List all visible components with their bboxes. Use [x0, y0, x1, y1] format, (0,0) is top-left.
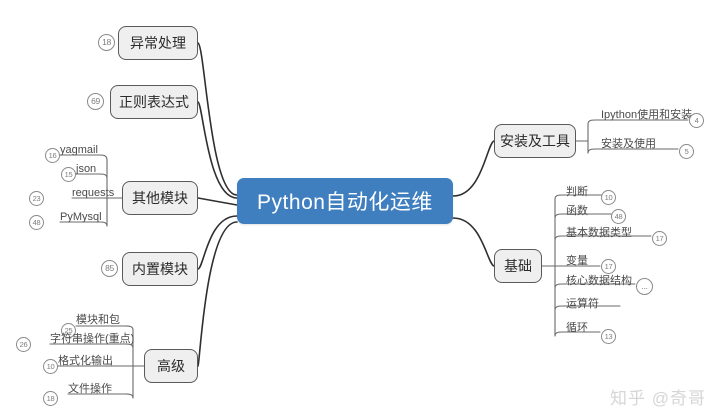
leaf-basic-data-types[interactable]: 基本数据类型	[566, 227, 632, 239]
watermark: 知乎 @奇哥	[610, 384, 706, 409]
badge-ipython-install: 4	[689, 113, 704, 128]
leaf-operators[interactable]: 运算符	[566, 298, 599, 310]
node-label: 内置模块	[132, 259, 188, 279]
node-label: 异常处理	[130, 33, 186, 53]
badge-json: 15	[61, 167, 76, 182]
leaf-ipython-install[interactable]: Ipython使用和安装	[601, 109, 692, 121]
node-label: 安装及工具	[500, 131, 570, 151]
node-exception-handling[interactable]: 异常处理	[118, 26, 198, 60]
node-label: 正则表达式	[119, 92, 189, 112]
badge-exception-handling: 18	[98, 34, 115, 51]
node-label: 基础	[504, 256, 532, 276]
node-other-modules[interactable]: 其他模块	[122, 181, 198, 215]
badge-builtin-modules: 85	[101, 260, 118, 277]
leaf-string-operations[interactable]: 字符串操作(重点)	[50, 333, 134, 345]
leaf-variables[interactable]: 变量	[566, 255, 588, 267]
leaf-formatted-output[interactable]: 格式化输出	[58, 355, 113, 367]
leaf-file-operations[interactable]: 文件操作	[68, 383, 112, 395]
root-node[interactable]: Python自动化运维	[237, 178, 453, 224]
badge-core-data-structures: ...	[636, 278, 653, 295]
badge-functions: 48	[611, 209, 626, 224]
badge-string-operations: 26	[16, 337, 31, 352]
edge-root-exception	[198, 43, 237, 195]
badge-regex: 69	[87, 93, 104, 110]
node-label: 其他模块	[132, 188, 188, 208]
leaf-requests[interactable]: requests	[72, 187, 114, 199]
leaf-conditionals[interactable]: 判断	[566, 186, 588, 198]
badge-loops: 13	[601, 329, 616, 344]
leaf-install-and-use[interactable]: 安装及使用	[601, 138, 656, 150]
badge-pymysql: 48	[29, 215, 44, 230]
badge-requests: 23	[29, 191, 44, 206]
badge-conditionals: 10	[601, 190, 616, 205]
node-install-and-tools[interactable]: 安装及工具	[494, 124, 576, 158]
edge-root-basics	[453, 218, 494, 266]
mindmap-canvas: Python自动化运维 异常处理 18 正则表达式 69 其他模块 yagmai…	[0, 0, 720, 419]
edge-root-builtin	[198, 216, 237, 269]
badge-basic-data-types: 17	[652, 231, 667, 246]
edge-root-install	[453, 141, 494, 196]
badge-install-and-use: 5	[679, 144, 694, 159]
edge-root-othermodules	[198, 198, 237, 205]
leaf-functions[interactable]: 函数	[566, 205, 588, 217]
node-label: 高级	[157, 356, 185, 376]
badge-formatted-output: 10	[43, 359, 58, 374]
edge-root-regex	[198, 102, 237, 198]
leaf-json[interactable]: json	[76, 163, 96, 175]
leaf-yagmail[interactable]: yagmail	[60, 144, 98, 156]
leaf-loops[interactable]: 循环	[566, 322, 588, 334]
badge-variables: 17	[601, 259, 616, 274]
badge-yagmail: 16	[45, 148, 60, 163]
node-regex[interactable]: 正则表达式	[110, 85, 198, 119]
root-node-label: Python自动化运维	[257, 186, 433, 216]
leaf-core-data-structures[interactable]: 核心数据结构	[566, 275, 632, 287]
leaf-modules-and-packages[interactable]: 模块和包	[76, 314, 120, 326]
node-advanced[interactable]: 高级	[144, 349, 198, 383]
edge-root-advanced	[198, 222, 237, 366]
node-builtin-modules[interactable]: 内置模块	[122, 252, 198, 286]
node-basics[interactable]: 基础	[494, 249, 542, 283]
badge-file-operations: 18	[43, 391, 58, 406]
leaf-pymysql[interactable]: PyMysql	[60, 211, 102, 223]
